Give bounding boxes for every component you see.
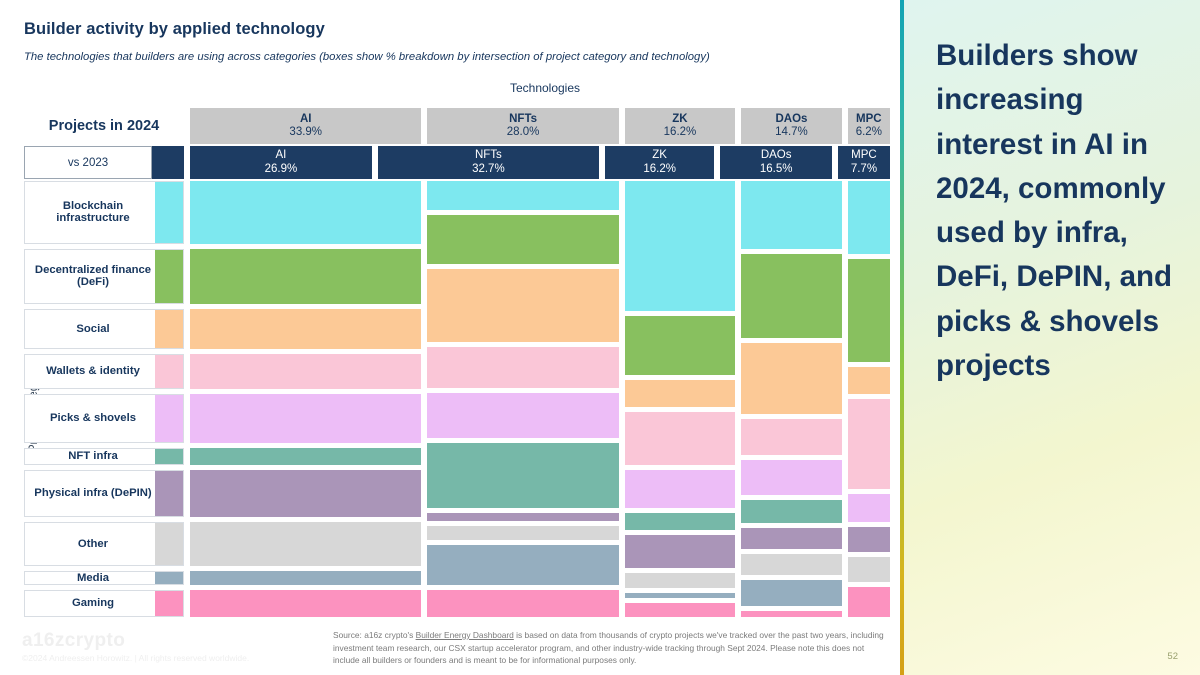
mosaic-cell [427,526,618,540]
column-header-percent: 28.0% [507,126,540,139]
category-label-gaming: Gaming [24,590,184,617]
mosaic-cell [190,470,421,517]
column-header-name: AI [300,113,312,126]
column-header-percent: 14.7% [775,126,808,139]
category-label-decentralized-finance-defi: Decentralized finance (DeFi) [24,249,184,305]
column-header-mpc: MPC7.7% [838,146,890,179]
mosaic-cell [625,470,736,508]
mosaic-cell [625,573,736,588]
column-header-ai: AI26.9% [190,146,372,179]
category-label-blockchain-infrastructure: Blockchain infrastructure [24,181,184,244]
source-note: Source: a16z crypto's Builder Energy Das… [333,629,886,667]
mosaic-cell [741,254,841,338]
category-label-text: Wallets & identity [46,365,162,378]
category-label-text: Other [78,538,130,551]
column-header-name: NFTs [509,113,537,126]
mosaic-cell [625,380,736,407]
category-label-text: NFT infra [68,450,140,463]
column-header-name: AI [275,149,286,162]
chart-panel: Builder activity by applied technology T… [0,0,900,675]
column-header-percent: 7.7% [851,163,877,176]
mosaic-cell [427,590,618,617]
category-label-media: Media [24,571,184,585]
mosaic-cell [190,354,421,389]
mosaic-cell [427,545,618,585]
category-label-text: Decentralized finance (DeFi) [25,264,183,289]
mosaic-cell [427,513,618,521]
category-label-text: Gaming [72,597,136,610]
mosaic-cell [741,181,841,249]
category-color-swatch [155,591,183,616]
vs-2023-label: vs 2023 [24,146,152,179]
column-header-name: ZK [672,113,687,126]
mosaic-cell [190,394,421,443]
mosaic-cell [848,527,890,551]
row-header-2023: vs 2023 [24,146,184,179]
column-header-name: MPC [856,113,882,126]
brand-logo: a16zcrypto [22,630,125,652]
category-label-text: Picks & shovels [50,412,158,425]
mosaic-cell [190,571,421,585]
source-link[interactable]: Builder Energy Dashboard [416,630,514,640]
category-label-text: Blockchain infrastructure [25,200,183,225]
column-header-daos: DAOs16.5% [720,146,832,179]
source-prefix: Source: a16z crypto's [333,630,416,640]
category-label-wallets-identity: Wallets & identity [24,354,184,389]
mosaic-cell [848,587,890,617]
mosaic-cell [625,181,736,311]
column-header-name: MPC [851,149,877,162]
mosaic-cell [190,522,421,567]
category-label-text: Physical infra (DePIN) [34,487,173,500]
mosaic-cell [190,249,421,305]
mosaic-cell [625,535,736,568]
mosaic-cell [741,419,841,455]
mosaic-cell [741,580,841,606]
mosaic-cell [190,181,421,244]
column-header-percent: 16.2% [664,126,697,139]
category-label-text: Media [77,572,131,585]
column-header-percent: 26.9% [265,163,298,176]
mosaic-cell [427,181,618,210]
column-header-name: NFTs [475,149,502,162]
mosaic-cell [427,393,618,438]
mosaic-cell [625,316,736,375]
category-color-swatch [155,572,183,584]
column-header-ai: AI33.9% [190,108,421,144]
page-number: 52 [1167,651,1178,662]
category-color-swatch [155,310,183,348]
mosaic-cell [625,603,736,617]
page-title: Builder activity by applied technology [24,20,325,39]
mosaic-cell [625,593,736,598]
mosaic-cell [848,259,890,362]
category-label-social: Social [24,309,184,349]
mosaic-cell [427,443,618,508]
mosaic-cell [741,500,841,523]
takeaway-headline: Builders show increasing interest in AI … [936,34,1182,388]
mosaic-chart [190,181,890,617]
mosaic-cell [741,343,841,414]
mosaic-cell [741,554,841,574]
mosaic-cell [625,513,736,530]
column-header-mpc: MPC6.2% [848,108,890,144]
column-header-zk: ZK16.2% [625,108,736,144]
mosaic-cell [190,309,421,349]
mosaic-cell [190,448,421,464]
category-color-swatch [155,449,183,463]
vs-2023-swatch [152,146,184,179]
mosaic-cell [741,460,841,495]
category-color-swatch [155,523,183,566]
column-header-name: DAOs [761,149,792,162]
takeaway-panel: Builders show increasing interest in AI … [900,0,1200,675]
slide: Builder activity by applied technology T… [0,0,1200,675]
column-header-zk: ZK16.2% [605,146,715,179]
column-header-daos: DAOs14.7% [741,108,841,144]
mosaic-cell [741,611,841,617]
mosaic-cell [741,528,841,549]
column-header-percent: 32.7% [472,163,505,176]
mosaic-cell [625,412,736,465]
column-header-percent: 33.9% [289,126,322,139]
page-subtitle: The technologies that builders are using… [24,51,710,63]
category-color-swatch [155,395,183,442]
mosaic-cell [848,181,890,254]
column-header-name: DAOs [775,113,807,126]
mosaic-cell [427,215,618,264]
x-axis-label: Technologies [190,81,900,95]
mosaic-cell [848,557,890,582]
category-label-picks-shovels: Picks & shovels [24,394,184,443]
mosaic-cell [427,347,618,388]
mosaic-cell [190,590,421,617]
column-header-percent: 6.2% [856,126,882,139]
category-label-nft-infra: NFT infra [24,448,184,464]
category-label-physical-infra-depin: Physical infra (DePIN) [24,470,184,517]
mosaic-cell [427,269,618,342]
column-header-nfts: NFTs32.7% [378,146,599,179]
mosaic-cell [848,367,890,394]
mosaic-cell [848,494,890,522]
copyright-text: ©2024 Andreessen Horowitz. | All rights … [22,653,249,663]
column-header-percent: 16.2% [643,163,676,176]
mosaic-cell [848,399,890,489]
row-header-2024: Projects in 2024 [24,108,184,144]
accent-gradient-bar [900,0,904,675]
column-header-name: ZK [652,149,667,162]
column-header-percent: 16.5% [760,163,793,176]
category-label-text: Social [76,323,131,336]
column-header-nfts: NFTs28.0% [427,108,618,144]
category-label-other: Other [24,522,184,567]
